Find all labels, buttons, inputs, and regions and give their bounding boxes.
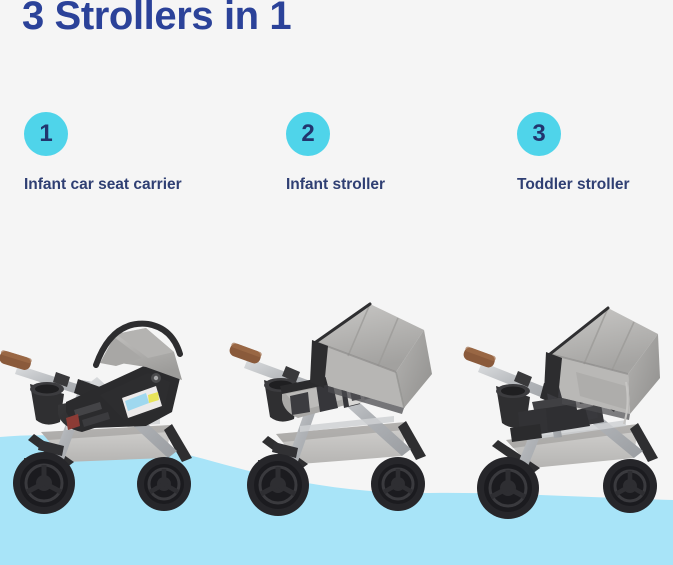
stroller-image-1 [0,262,212,522]
wheel-front-2 [371,457,425,511]
step-item-1: 1 Infant car seat carrier [24,112,182,194]
stroller-image-3 [458,262,673,522]
steps-row: 1 Infant car seat carrier 2 Infant strol… [0,112,673,212]
step-badge-1: 1 [24,112,68,156]
wheel-rear-2 [247,454,309,516]
page-title: 3 Strollers in 1 [22,0,291,40]
step-badge-3: 3 [517,112,561,156]
stroller-image-2 [228,262,444,522]
step-label-1: Infant car seat carrier [24,176,182,194]
wheel-rear-3 [477,457,539,519]
step-item-2: 2 Infant stroller [286,112,385,194]
step-label-2: Infant stroller [286,176,385,194]
promo-graphic: 3 Strollers in 1 1 Infant car seat carri… [0,0,673,565]
step-item-3: 3 Toddler stroller [517,112,630,194]
step-badge-2: 2 [286,112,330,156]
wheel-front-3 [603,459,657,513]
step-label-3: Toddler stroller [517,176,630,194]
wheel-rear-1 [13,452,75,514]
wheel-front-1 [137,457,191,511]
